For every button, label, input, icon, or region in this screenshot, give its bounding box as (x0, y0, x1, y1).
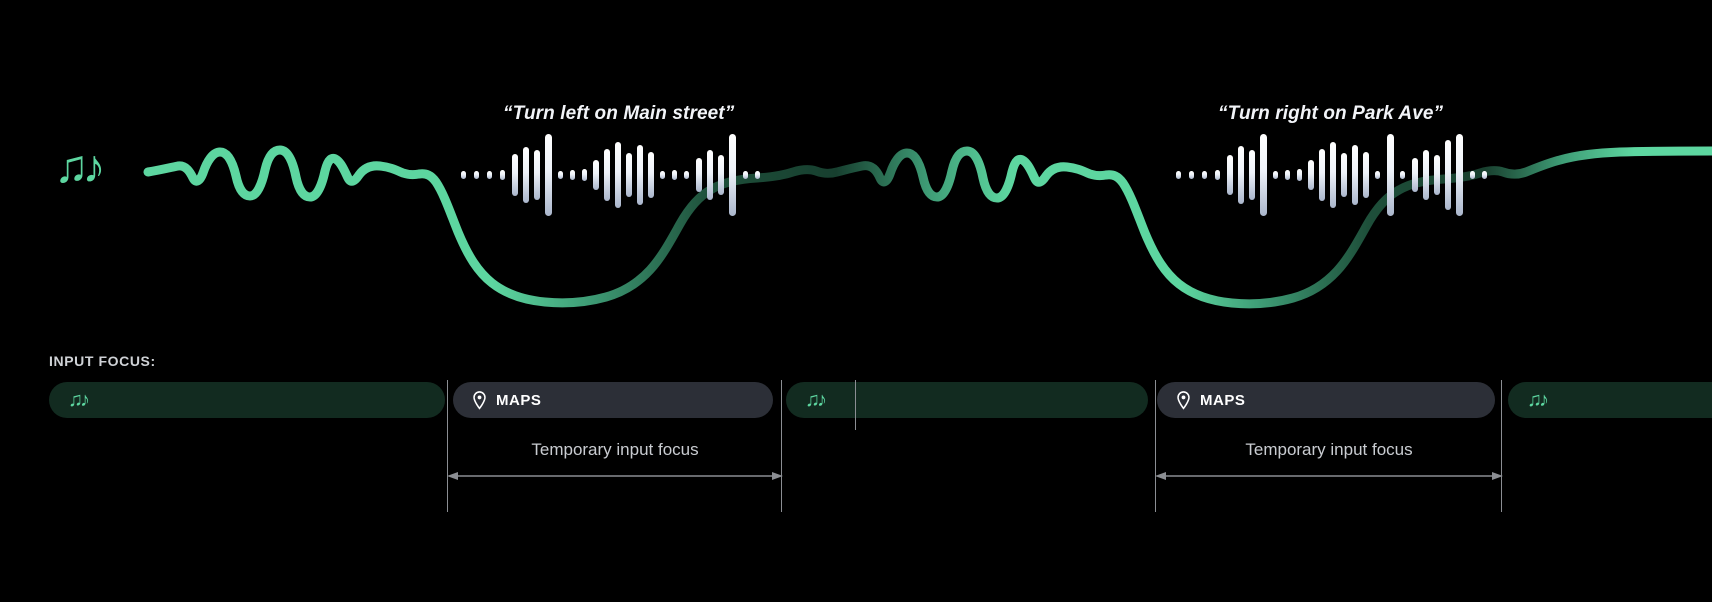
input-focus-label: INPUT FOCUS: (49, 353, 156, 369)
focus-segment-label: MAPS (1200, 392, 1245, 409)
temporary-focus-span-arrow-2 (1155, 470, 1503, 482)
focus-segment-label: MAPS (496, 392, 541, 409)
voice-caption-2: “Turn right on Park Ave” (1218, 103, 1443, 125)
voice-waveform-cluster-1 (461, 134, 760, 216)
music-notes-icon: ♫♪ (805, 390, 824, 410)
waveform-timeline: “Turn left on Main street” “Turn right o… (0, 0, 1712, 330)
location-pin-icon (472, 391, 487, 410)
segment-boundary-tick (855, 380, 856, 430)
focus-segment-maps-2[interactable]: MAPS (1157, 382, 1495, 418)
location-pin-icon (1176, 391, 1191, 410)
focus-segment-maps-1[interactable]: MAPS (453, 382, 773, 418)
music-waveform-path (148, 150, 1712, 304)
input-focus-track: INPUT FOCUS: ♫♪ MAPS ♫♪ (0, 330, 1712, 602)
temporary-focus-span-label-1: Temporary input focus (447, 440, 783, 460)
music-notes-icon: ♫♪ (1527, 390, 1546, 410)
music-notes-icon: ♫♪ (54, 143, 100, 189)
temporary-focus-span-arrow-1 (447, 470, 783, 482)
focus-segment-music-3[interactable]: ♫♪ (1508, 382, 1712, 418)
voice-caption-1: “Turn left on Main street” (503, 103, 734, 125)
focus-segment-music-2[interactable]: ♫♪ (786, 382, 1148, 418)
music-notes-icon: ♫♪ (68, 390, 87, 410)
temporary-focus-span-label-2: Temporary input focus (1155, 440, 1503, 460)
focus-segment-music-1[interactable]: ♫♪ (49, 382, 445, 418)
screen-root: “Turn left on Main street” “Turn right o… (0, 0, 1712, 602)
waveform-canvas (0, 0, 1712, 330)
